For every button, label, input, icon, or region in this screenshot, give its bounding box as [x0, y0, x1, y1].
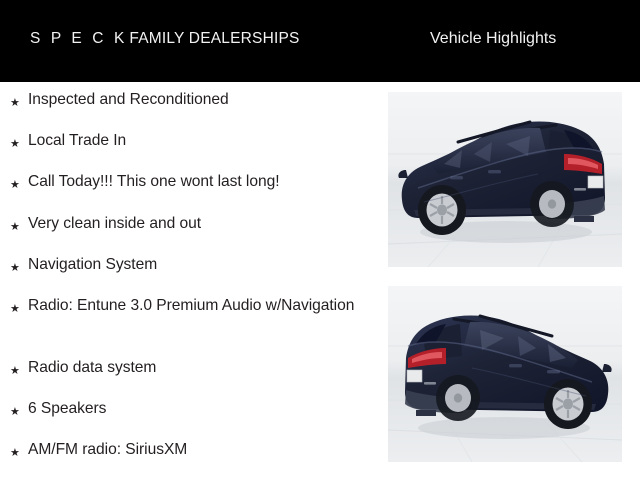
star-bullet-icon: ★ — [10, 247, 28, 279]
star-bullet-icon: ★ — [10, 82, 28, 114]
page-title: Vehicle Highlights — [430, 28, 556, 49]
list-item-label: AM/FM radio: SiriusXM — [28, 432, 380, 461]
brand-mark: S P E C K — [30, 30, 127, 47]
star-bullet-icon: ★ — [10, 206, 28, 238]
brand-logo: S P E C KFAMILY DEALERSHIPS — [30, 29, 300, 49]
star-bullet-icon: ★ — [10, 350, 28, 382]
star-bullet-icon: ★ — [10, 432, 28, 464]
list-item: ★ AM/FM radio: SiriusXM — [0, 432, 380, 473]
vehicle-photo-rear-right-quarter[interactable] — [388, 286, 622, 462]
list-item-label: Call Today!!! This one wont last long! — [28, 164, 380, 193]
list-item: ★ Radio: Entune 3.0 Premium Audio w/Navi… — [0, 288, 380, 350]
list-item: ★ 6 Speakers — [0, 391, 380, 432]
header-bar: S P E C KFAMILY DEALERSHIPS Vehicle High… — [0, 0, 640, 82]
list-item: ★ Navigation System — [0, 247, 380, 288]
vehicle-highlights-list: ★ Inspected and Reconditioned ★ Local Tr… — [0, 82, 380, 474]
vehicle-photo-rear-left-quarter[interactable] — [388, 92, 622, 267]
star-bullet-icon: ★ — [10, 391, 28, 423]
list-item: ★ Very clean inside and out — [0, 206, 380, 247]
list-item: ★ Local Trade In — [0, 123, 380, 164]
list-item-label: Radio: Entune 3.0 Premium Audio w/Naviga… — [28, 288, 380, 317]
star-bullet-icon: ★ — [10, 164, 28, 196]
list-item: ★ Radio data system — [0, 350, 380, 391]
list-item-label: Radio data system — [28, 350, 380, 379]
list-item-label: Local Trade In — [28, 123, 380, 152]
star-bullet-icon: ★ — [10, 288, 28, 320]
content-area: ★ Inspected and Reconditioned ★ Local Tr… — [0, 82, 640, 480]
list-item: ★ Inspected and Reconditioned — [0, 82, 380, 123]
list-item: ★ Call Today!!! This one wont last long! — [0, 164, 380, 205]
brand-word: FAMILY DEALERSHIPS — [127, 30, 299, 47]
star-bullet-icon: ★ — [10, 123, 28, 155]
list-item-label: Inspected and Reconditioned — [28, 82, 380, 111]
list-item-label: Very clean inside and out — [28, 206, 380, 235]
list-item-label: Navigation System — [28, 247, 380, 276]
list-item-label: 6 Speakers — [28, 391, 380, 420]
